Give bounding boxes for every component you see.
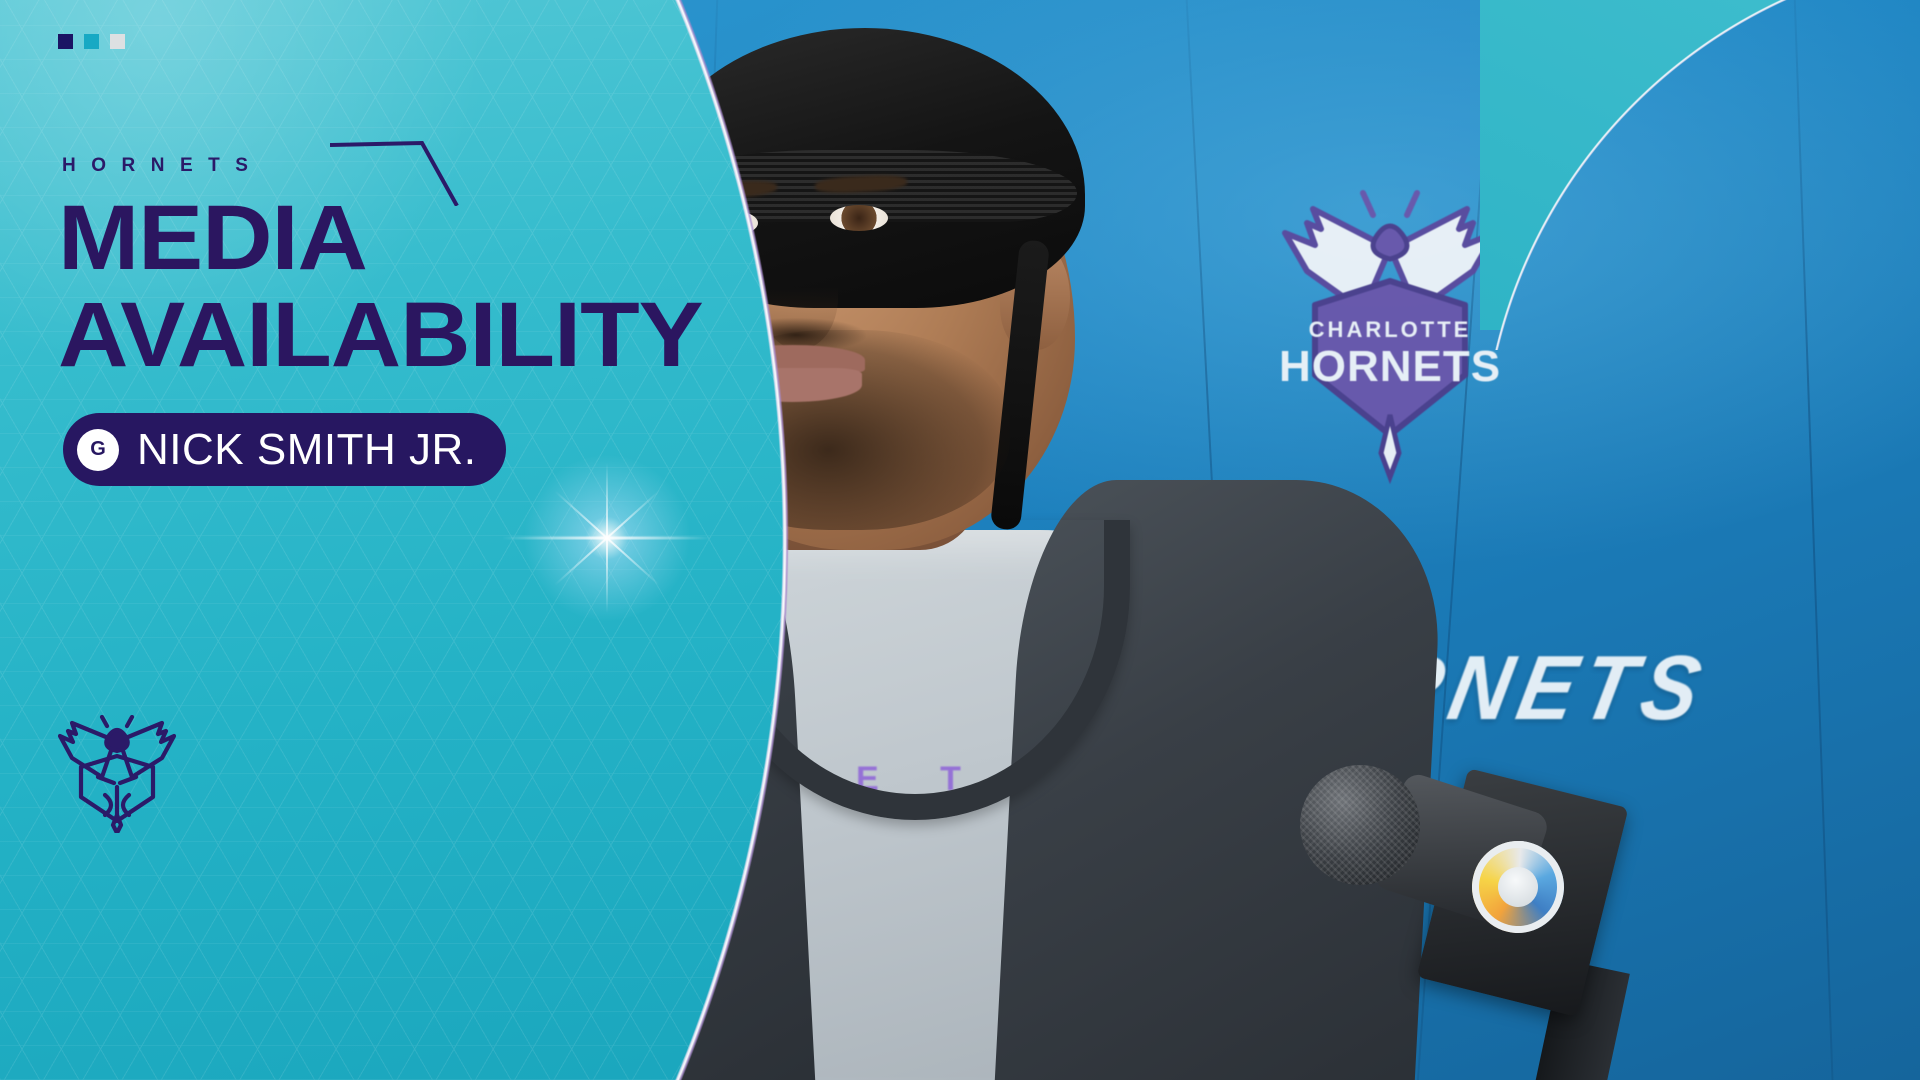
swatch-teal-icon — [84, 34, 99, 49]
eye-right — [830, 205, 888, 231]
hornet-logo-icon — [58, 715, 176, 833]
swatch-light-icon — [110, 34, 125, 49]
kicker-label: HORNETS — [62, 155, 263, 177]
microphone-grille-mesh — [1300, 765, 1420, 885]
microphone-icon — [1290, 745, 1620, 1080]
title-line-1: MEDIA — [58, 196, 715, 281]
player-position-badge: G — [77, 429, 119, 471]
top-right-corner-wedge — [1480, 0, 1920, 330]
color-swatches — [58, 34, 125, 49]
title-line-2: AVAILABILITY — [58, 293, 715, 378]
player-name-label: NICK SMITH JR. — [137, 425, 476, 475]
team-panel: HORNETS MEDIA AVAILABILITY G NICK SMITH … — [0, 0, 790, 1080]
player-name-pill: G NICK SMITH JR. — [63, 413, 506, 486]
media-availability-graphic: @H CHARLOTTE HORNETS HORNETS — [0, 0, 1920, 1080]
swatch-navy-icon — [58, 34, 73, 49]
page-title: MEDIA AVAILABILITY — [58, 196, 678, 377]
